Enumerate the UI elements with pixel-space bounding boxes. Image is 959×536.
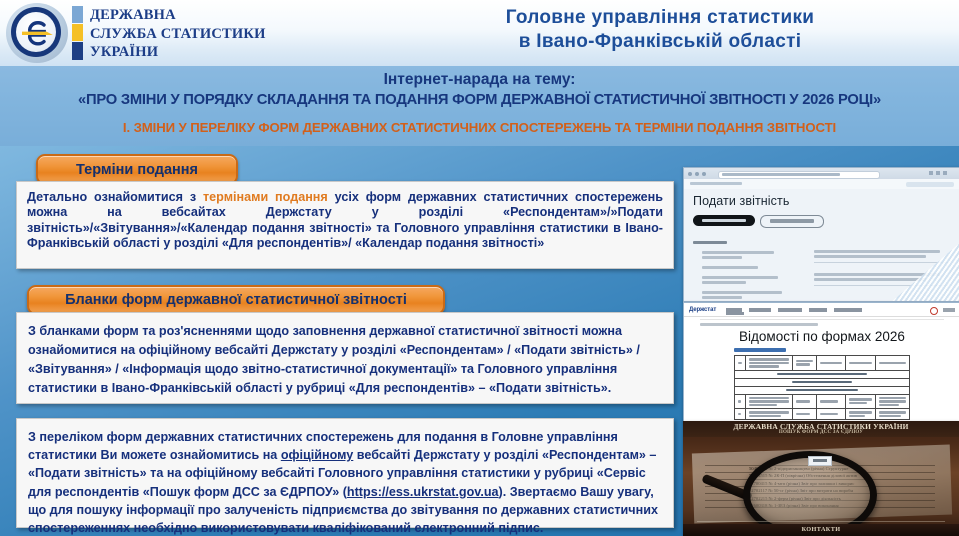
account-menu[interactable]: [943, 308, 955, 312]
magnifier-photo: ДЕРЖАВНА СЛУЖБА СТАТИСТИКИ УКРАЇНИ ПОШУК…: [683, 421, 959, 536]
site-navigation-bar: Держстат: [684, 303, 959, 317]
table-group-row: [735, 370, 910, 378]
organisation-name: ДЕРЖАВНА СЛУЖБА СТАТИСТИКИ УКРАЇНИ: [90, 6, 320, 62]
page-body: Подати звітність: [684, 189, 959, 301]
vidomosti-po-formah-screenshot: Держстат Відомості по формах 2026: [683, 302, 959, 422]
photo-footer-label: КОНТАКТИ: [683, 524, 959, 536]
slide-header: ДЕРЖАВНА СЛУЖБА СТАТИСТИКИ УКРАЇНИ Голов…: [0, 0, 959, 66]
panel-terminy-podannya: Детально ознайомитися з термінами поданн…: [16, 181, 674, 269]
table-header-row: [735, 356, 910, 371]
browser-toolbar-icons: [926, 171, 956, 176]
table-group-row: [735, 378, 910, 386]
browser-address-bar[interactable]: [718, 171, 880, 179]
emblem-epsilon-icon: [4, 1, 68, 65]
breadcrumb: [690, 182, 742, 185]
panel1-text-part1: Детально ознайомитися з: [27, 190, 203, 204]
page-title: Подати звітність: [693, 194, 789, 208]
photo-banner-subtitle: ПОШУК ФОРМ ДСС ЗА ЄДРПОУ: [683, 430, 959, 435]
language-switch-badge[interactable]: [906, 182, 954, 187]
table-group-row: [735, 386, 910, 394]
tooltip-chip: [808, 456, 832, 466]
nav-menu-items[interactable]: [726, 308, 876, 312]
podaty-zvitnist-browser-screenshot: Подати звітність: [683, 167, 959, 302]
panel1-highlight: термінами подання: [203, 190, 328, 204]
title-band: Інтернет-нарада на тему: «ПРО ЗМІНИ У ПО…: [0, 66, 959, 146]
org-name-line-1: ДЕРЖАВНА: [90, 6, 320, 25]
section-title: І. ЗМІНИ У ПЕРЕЛІКУ ФОРМ ДЕРЖАВНИХ СТАТИ…: [0, 120, 959, 135]
meeting-title: «ПРО ЗМІНИ У ПОРЯДКУ СКЛАДАННЯ ТА ПОДАНН…: [7, 91, 952, 108]
subsection-link[interactable]: [734, 348, 786, 352]
tab-kabinet-respondenta[interactable]: [693, 215, 755, 226]
pill-blanky-form[interactable]: Бланки форм державної статистичної звітн…: [27, 285, 445, 315]
derzhstat-emblem-icon: [4, 1, 72, 65]
org-name-line-3: УКРАЇНИ: [90, 43, 320, 62]
table-row: [735, 394, 910, 409]
header-title: Головне управління статистики в Івано-Фр…: [380, 6, 940, 54]
header-title-line-2: в Івано-Франківській області: [380, 30, 940, 54]
org-name-line-2: СЛУЖБА СТАТИСТИКИ: [90, 25, 320, 44]
header-title-line-1: Головне управління статистики: [380, 6, 940, 30]
page-title: Відомості по формах 2026: [684, 329, 959, 344]
forms-table: [734, 355, 910, 420]
panel2-text: З бланками форм та роз'ясненнями щодо за…: [28, 324, 640, 395]
tab-poshuk-za-kodom[interactable]: [760, 215, 824, 228]
presentation-slide: ДЕРЖАВНА СЛУЖБА СТАТИСТИКИ УКРАЇНИ Голов…: [0, 0, 959, 536]
panel3-link-oficiynomu[interactable]: офіційному: [281, 448, 353, 462]
search-icon[interactable]: [930, 307, 938, 315]
flag-bars-icon: [72, 6, 84, 60]
panel-perelik-form: З переліком форм державних статистичних …: [16, 418, 674, 528]
breadcrumb: [700, 323, 818, 326]
table-row: [735, 409, 910, 420]
meeting-subject-label: Інтернет-нарада на тему:: [0, 71, 959, 89]
photo-footer: КОНТАКТИ: [683, 524, 959, 536]
site-logo[interactable]: Держстат: [689, 307, 716, 313]
browser-nav-icons: [688, 172, 714, 177]
panel-blanky-form: З бланками форм та роз'ясненнями щодо за…: [16, 312, 674, 404]
panel3-link-ess-ukrstat[interactable]: https://ess.ukrstat.gov.ua: [347, 485, 499, 499]
